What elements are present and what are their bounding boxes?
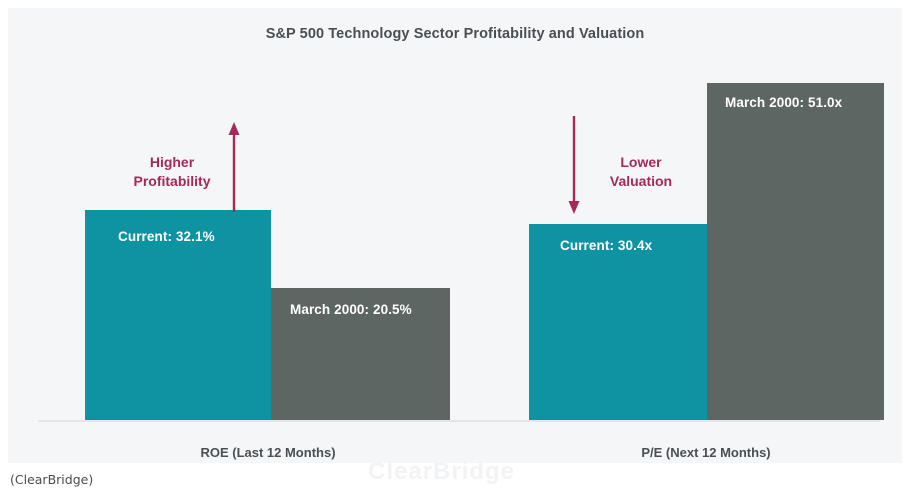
bar-label-roe-march2000: March 2000: 20.5% xyxy=(290,302,412,317)
arrow-down-icon xyxy=(561,116,587,216)
source-caption: (ClearBridge) xyxy=(10,472,93,487)
annotation-pe-line2: Valuation xyxy=(610,173,672,189)
bar-label-pe-current: Current: 30.4x xyxy=(560,238,652,253)
category-label-roe: ROE (Last 12 Months) xyxy=(158,445,378,460)
plot-area: Current: 32.1% March 2000: 20.5% Higher … xyxy=(8,8,902,463)
bar-pe-current[interactable] xyxy=(529,224,707,420)
bar-label-roe-current: Current: 32.1% xyxy=(118,229,215,244)
axis-baseline xyxy=(38,420,880,422)
chart-panel: S&P 500 Technology Sector Profitability … xyxy=(8,8,902,463)
arrow-up-icon xyxy=(221,120,247,212)
annotation-roe-line2: Profitability xyxy=(133,173,210,189)
watermark: ClearBridge xyxy=(368,458,515,486)
bar-label-pe-march2000: March 2000: 51.0x xyxy=(725,95,842,110)
annotation-pe-text: Lower Valuation xyxy=(589,153,693,191)
annotation-roe-line1: Higher xyxy=(150,154,194,170)
annotation-pe-line1: Lower xyxy=(620,154,661,170)
category-label-pe: P/E (Next 12 Months) xyxy=(596,445,816,460)
bar-pe-march2000[interactable] xyxy=(707,83,884,420)
annotation-roe-text: Higher Profitability xyxy=(116,153,228,191)
